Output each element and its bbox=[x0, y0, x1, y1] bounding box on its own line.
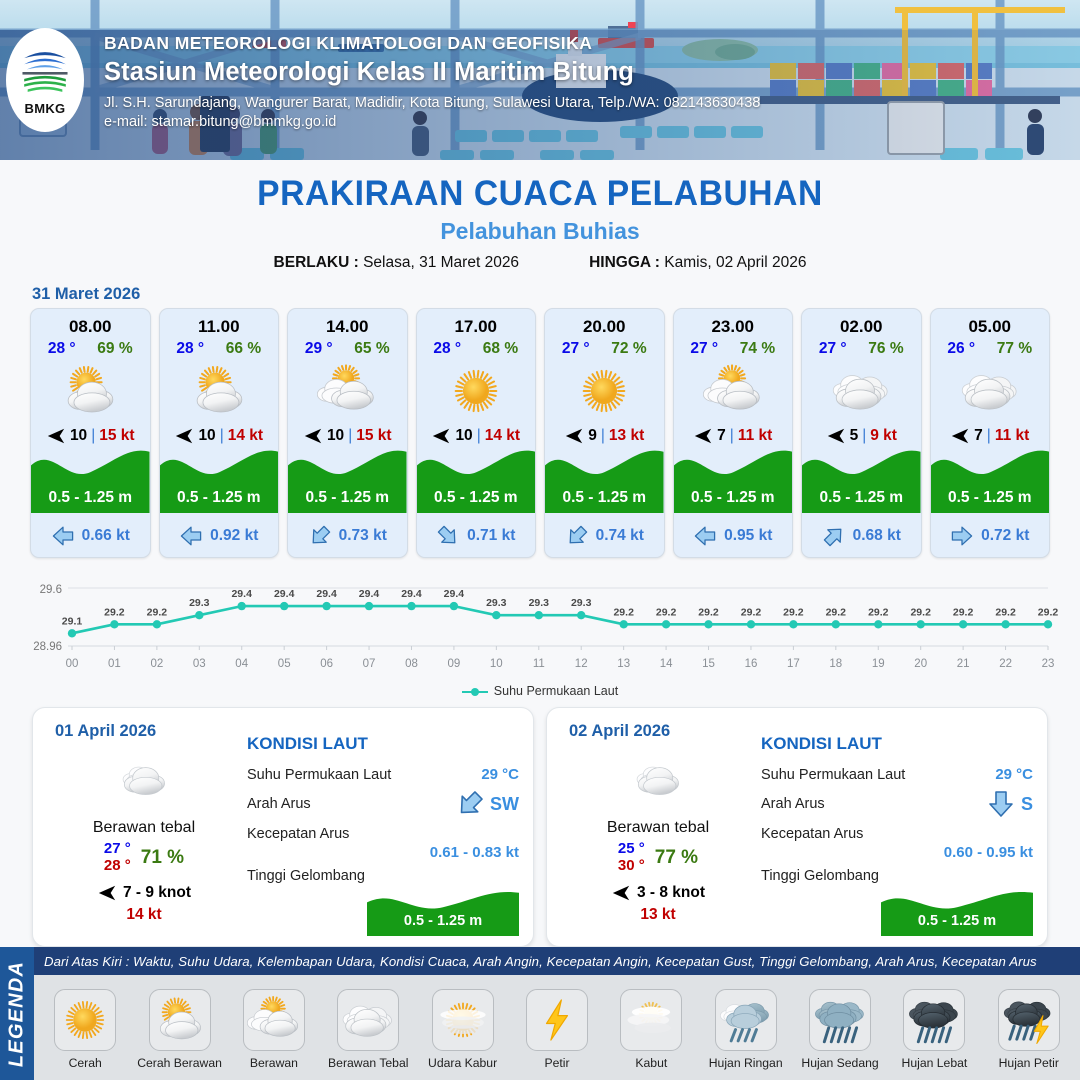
card-current-speed: 0.68 kt bbox=[853, 527, 901, 545]
legenda-icon-tile bbox=[903, 989, 965, 1051]
card-temperature: 27 ° bbox=[562, 340, 590, 358]
card-weather-icon bbox=[160, 360, 279, 422]
daily-forecast-panel: 01 April 2026 Berawan tebal 27 ° 28 ° bbox=[32, 707, 534, 947]
card-wave-height: 0.5 - 1.25 m bbox=[417, 489, 536, 507]
card-wind-row: 10 | 15 kt bbox=[31, 426, 150, 446]
card-wind-separator: | bbox=[91, 427, 95, 445]
current-speed-value: 0.60 - 0.95 kt bbox=[761, 844, 1033, 861]
legenda-item-label: Udara Kabur bbox=[428, 1056, 497, 1070]
svg-text:29.4: 29.4 bbox=[274, 588, 295, 600]
card-weather-icon bbox=[931, 360, 1050, 422]
panel-temperatures: 25 ° 30 ° bbox=[618, 841, 645, 875]
card-wind-separator: | bbox=[987, 427, 991, 445]
current-direction-value: SW bbox=[490, 794, 519, 815]
svg-text:08: 08 bbox=[405, 658, 418, 670]
sst-label: Suhu Permukaan Laut bbox=[247, 767, 391, 783]
card-time: 08.00 bbox=[31, 317, 150, 337]
card-temperature: 29 ° bbox=[305, 340, 333, 358]
card-temp-hum-row: 29 ° 65 % bbox=[288, 340, 407, 358]
legenda-icon-tile bbox=[149, 989, 211, 1051]
agency-name: BADAN METEOROLOGI KLIMATOLOGI DAN GEOFIS… bbox=[104, 33, 760, 54]
card-time: 14.00 bbox=[288, 317, 407, 337]
current-direction-row: Arah Arus SW bbox=[247, 789, 519, 819]
wind-direction-arrow bbox=[826, 426, 846, 446]
svg-text:29.4: 29.4 bbox=[316, 588, 337, 600]
panel-wave-height: 0.5 - 1.25 m bbox=[881, 913, 1033, 929]
valid-from-label: BERLAKU : bbox=[274, 254, 359, 271]
wave-height-row: Tinggi Gelombang bbox=[247, 861, 519, 890]
sun-icon bbox=[58, 993, 112, 1047]
card-gust-speed: 14 kt bbox=[485, 427, 520, 445]
sun-clouds-icon bbox=[317, 361, 377, 421]
current-direction-arrow-ne bbox=[822, 524, 846, 548]
card-wind-speed: 9 bbox=[588, 427, 597, 445]
current-speed-value: 0.61 - 0.83 kt bbox=[247, 844, 519, 861]
legenda-item-label: Berawan bbox=[250, 1056, 298, 1070]
sun-clouds-icon bbox=[247, 993, 301, 1047]
legenda-item: Hujan Lebat bbox=[887, 989, 981, 1070]
hourly-forecast-card: 20.00 27 ° 72 % 9 | 13 kt 0.5 - 1.25 m bbox=[544, 308, 665, 558]
panel-temp-min: 27 ° bbox=[104, 841, 131, 858]
wind-direction-arrow bbox=[97, 883, 117, 903]
svg-text:29.2: 29.2 bbox=[698, 606, 719, 618]
legenda-icon-tile bbox=[337, 989, 399, 1051]
current-direction-arrow-s bbox=[986, 789, 1016, 819]
card-current-speed: 0.92 kt bbox=[210, 527, 258, 545]
legenda-icon-tile bbox=[620, 989, 682, 1051]
current-direction-arrow-w bbox=[693, 524, 717, 548]
panel-temp-max: 30 ° bbox=[618, 858, 645, 875]
svg-text:22: 22 bbox=[999, 658, 1012, 670]
card-current-speed: 0.95 kt bbox=[724, 527, 772, 545]
bmkg-logo: BMKG bbox=[6, 28, 84, 132]
wave-height-row: Tinggi Gelombang bbox=[761, 861, 1033, 890]
hourly-forecast-card: 02.00 27 ° 76 % 5 | 9 kt bbox=[801, 308, 922, 558]
svg-text:14: 14 bbox=[660, 658, 673, 670]
panel-wave-box: 0.5 - 1.25 m bbox=[881, 888, 1033, 936]
svg-text:19: 19 bbox=[872, 658, 885, 670]
legenda-icon-tile bbox=[432, 989, 494, 1051]
legenda-item: Petir bbox=[510, 989, 604, 1070]
svg-text:09: 09 bbox=[448, 658, 461, 670]
panel-temp-min: 25 ° bbox=[618, 841, 645, 858]
legenda-item: Hujan Ringan bbox=[699, 989, 793, 1070]
station-name: Stasiun Meteorologi Kelas II Maritim Bit… bbox=[104, 58, 760, 87]
panel-date: 02 April 2026 bbox=[569, 722, 670, 741]
panel-temp-max: 28 ° bbox=[104, 858, 131, 875]
svg-text:28.96: 28.96 bbox=[33, 641, 62, 653]
wind-direction-arrow bbox=[611, 883, 631, 903]
hourly-date-label: 31 Maret 2026 bbox=[32, 285, 1080, 304]
card-time: 17.00 bbox=[417, 317, 536, 337]
svg-text:29.2: 29.2 bbox=[783, 606, 804, 618]
clouds-icon bbox=[341, 993, 395, 1047]
card-wave-height: 0.5 - 1.25 m bbox=[931, 489, 1050, 507]
panel-condition: Berawan tebal bbox=[49, 819, 239, 837]
card-temp-hum-row: 27 ° 72 % bbox=[545, 340, 664, 358]
svg-text:29.2: 29.2 bbox=[826, 606, 847, 618]
card-gust-speed: 11 kt bbox=[995, 427, 1029, 445]
legenda-item-label: Cerah Berawan bbox=[137, 1056, 222, 1070]
legenda-icon-tile bbox=[809, 989, 871, 1051]
svg-text:05: 05 bbox=[278, 658, 291, 670]
card-current-row: 0.66 kt bbox=[31, 524, 150, 548]
card-wind-separator: | bbox=[220, 427, 224, 445]
svg-text:29.2: 29.2 bbox=[741, 606, 762, 618]
panel-wave-box: 0.5 - 1.25 m bbox=[367, 888, 519, 936]
sst-chart: 29.628.9629.10029.20129.20229.30329.4042… bbox=[0, 572, 1080, 682]
svg-text:29.3: 29.3 bbox=[189, 597, 210, 609]
svg-text:29.4: 29.4 bbox=[359, 588, 380, 600]
wind-direction-arrow bbox=[950, 426, 970, 446]
current-direction-arrow-sw bbox=[565, 524, 589, 548]
card-humidity: 77 % bbox=[997, 340, 1032, 358]
legenda-item: Kabut bbox=[604, 989, 698, 1070]
card-wind-speed: 10 bbox=[70, 427, 87, 445]
sst-row: Suhu Permukaan Laut 29 °C bbox=[761, 760, 1033, 789]
svg-text:29.1: 29.1 bbox=[62, 615, 83, 627]
hourly-forecast-card: 08.00 28 ° 69 % 10 | 15 kt 0.5 - bbox=[30, 308, 151, 558]
station-email: e-mail: stamar.bitung@bmmkg.go.id bbox=[104, 114, 760, 130]
panel-wind-row: 3 - 8 knot bbox=[563, 883, 753, 903]
card-humidity: 65 % bbox=[354, 340, 389, 358]
card-humidity: 66 % bbox=[226, 340, 261, 358]
card-wind-separator: | bbox=[348, 427, 352, 445]
card-current-speed: 0.71 kt bbox=[467, 527, 515, 545]
legenda-item: Cerah bbox=[38, 989, 132, 1070]
current-direction-arrow-se bbox=[436, 524, 460, 548]
hourly-forecast-card: 11.00 28 ° 66 % 10 | 14 kt 0.5 - bbox=[159, 308, 280, 558]
card-current-speed: 0.72 kt bbox=[981, 527, 1029, 545]
svg-text:10: 10 bbox=[490, 658, 503, 670]
hourly-forecast-card: 23.00 27 ° 74 % 7 | 11 kt bbox=[673, 308, 794, 558]
card-wind-speed: 7 bbox=[974, 427, 983, 445]
legenda-item: Berawan bbox=[227, 989, 321, 1070]
panel-sea-conditions: KONDISI LAUT Suhu Permukaan Laut 29 °C A… bbox=[247, 734, 519, 936]
current-direction-arrow-sw bbox=[455, 789, 485, 819]
legenda-sidebar-label: LEGENDA bbox=[6, 960, 29, 1066]
legenda-note: Dari Atas Kiri : Waktu, Suhu Udara, Kele… bbox=[34, 947, 1080, 975]
card-temp-hum-row: 27 ° 74 % bbox=[674, 340, 793, 358]
legenda-item: Cerah Berawan bbox=[133, 989, 227, 1070]
lightning-icon bbox=[530, 993, 584, 1047]
sun-icon bbox=[574, 361, 634, 421]
validity-row: BERLAKU : Selasa, 31 Maret 2026 HINGGA :… bbox=[0, 254, 1080, 272]
card-humidity: 69 % bbox=[97, 340, 132, 358]
legenda-item-label: Berawan Tebal bbox=[328, 1056, 408, 1070]
current-direction-arrow-w bbox=[179, 524, 203, 548]
sea-conditions-title: KONDISI LAUT bbox=[247, 734, 519, 754]
card-gust-speed: 11 kt bbox=[738, 427, 772, 445]
panel-temp-hum-row: 25 ° 30 ° 77 % bbox=[563, 841, 753, 875]
legenda-icon-tile bbox=[54, 989, 116, 1051]
card-temperature: 27 ° bbox=[819, 340, 847, 358]
card-current-row: 0.95 kt bbox=[674, 524, 793, 548]
current-direction-arrow-e bbox=[950, 524, 974, 548]
page-title: PRAKIRAAN CUACA PELABUHAN bbox=[22, 174, 1059, 214]
svg-text:29.3: 29.3 bbox=[571, 597, 592, 609]
svg-text:17: 17 bbox=[787, 658, 800, 670]
svg-text:07: 07 bbox=[363, 658, 376, 670]
hourly-forecast-card: 14.00 29 ° 65 % 10 | 15 kt bbox=[287, 308, 408, 558]
hourly-forecast-card: 05.00 26 ° 77 % 7 | 11 kt bbox=[930, 308, 1051, 558]
cloud-icon bbox=[631, 753, 685, 807]
valid-to-value: Kamis, 02 April 2026 bbox=[664, 254, 806, 271]
wind-direction-arrow bbox=[564, 426, 584, 446]
valid-from: BERLAKU : Selasa, 31 Maret 2026 bbox=[274, 254, 520, 272]
svg-text:29.2: 29.2 bbox=[953, 606, 974, 618]
card-time: 11.00 bbox=[160, 317, 279, 337]
card-weather-icon bbox=[288, 360, 407, 422]
legenda-item-label: Kabut bbox=[635, 1056, 667, 1070]
legenda-item-label: Hujan Ringan bbox=[709, 1056, 783, 1070]
svg-text:02: 02 bbox=[151, 658, 164, 670]
sst-chart-svg: 29.628.9629.10029.20129.20229.30329.4042… bbox=[0, 572, 1080, 680]
card-wind-separator: | bbox=[862, 427, 866, 445]
legenda-item: Hujan Sedang bbox=[793, 989, 887, 1070]
current-direction-arrow-w bbox=[51, 524, 75, 548]
wind-direction-arrow bbox=[303, 426, 323, 446]
card-wind-row: 7 | 11 kt bbox=[674, 426, 793, 446]
svg-text:13: 13 bbox=[617, 658, 630, 670]
current-direction-value-box: S bbox=[986, 789, 1033, 819]
clouds-icon bbox=[960, 361, 1020, 421]
sea-conditions-title: KONDISI LAUT bbox=[761, 734, 1033, 754]
card-time: 20.00 bbox=[545, 317, 664, 337]
card-temperature: 28 ° bbox=[433, 340, 461, 358]
svg-text:15: 15 bbox=[702, 658, 715, 670]
card-temp-hum-row: 28 ° 69 % bbox=[31, 340, 150, 358]
legenda-icon-tile bbox=[998, 989, 1060, 1051]
current-direction-arrow-sw bbox=[308, 524, 332, 548]
card-wind-separator: | bbox=[601, 427, 605, 445]
card-temperature: 26 ° bbox=[947, 340, 975, 358]
sun-icon bbox=[446, 361, 506, 421]
svg-text:29.2: 29.2 bbox=[910, 606, 931, 618]
card-wind-row: 10 | 14 kt bbox=[160, 426, 279, 446]
svg-text:06: 06 bbox=[320, 658, 333, 670]
svg-text:29.3: 29.3 bbox=[486, 597, 507, 609]
bmkg-logo-mark bbox=[19, 44, 71, 100]
svg-text:20: 20 bbox=[914, 658, 927, 670]
current-speed-label: Kecepatan Arus bbox=[761, 826, 863, 842]
panel-wind-row: 7 - 9 knot bbox=[49, 883, 239, 903]
svg-text:29.2: 29.2 bbox=[868, 606, 889, 618]
current-direction-row: Arah Arus S bbox=[761, 789, 1033, 819]
card-wave-height: 0.5 - 1.25 m bbox=[802, 489, 921, 507]
valid-to-label: HINGGA : bbox=[589, 254, 660, 271]
card-humidity: 68 % bbox=[483, 340, 518, 358]
panel-wave-height: 0.5 - 1.25 m bbox=[367, 913, 519, 929]
card-weather-icon bbox=[802, 360, 921, 422]
card-temp-hum-row: 28 ° 68 % bbox=[417, 340, 536, 358]
card-wind-speed: 10 bbox=[327, 427, 344, 445]
valid-from-value: Selasa, 31 Maret 2026 bbox=[363, 254, 519, 271]
card-wave-height: 0.5 - 1.25 m bbox=[545, 489, 664, 507]
legenda-section: LEGENDA Dari Atas Kiri : Waktu, Suhu Uda… bbox=[0, 947, 1080, 1080]
valid-to: HINGGA : Kamis, 02 April 2026 bbox=[589, 254, 806, 272]
sun-cloud-icon bbox=[60, 361, 120, 421]
svg-text:11: 11 bbox=[533, 658, 545, 670]
svg-text:29.2: 29.2 bbox=[104, 606, 125, 618]
panel-left-column: Berawan tebal 25 ° 30 ° 77 % 3 - 8 knot … bbox=[563, 754, 753, 924]
panel-humidity: 71 % bbox=[141, 847, 184, 869]
svg-text:21: 21 bbox=[957, 658, 970, 670]
svg-text:29.2: 29.2 bbox=[147, 606, 168, 618]
panel-left-column: Berawan tebal 27 ° 28 ° 71 % 7 - 9 knot … bbox=[49, 754, 239, 924]
card-gust-speed: 14 kt bbox=[228, 427, 263, 445]
card-current-speed: 0.74 kt bbox=[596, 527, 644, 545]
fog-icon bbox=[624, 993, 678, 1047]
card-wave-height: 0.5 - 1.25 m bbox=[674, 489, 793, 507]
panel-humidity: 77 % bbox=[655, 847, 698, 869]
legenda-item: Hujan Petir bbox=[982, 989, 1076, 1070]
card-humidity: 76 % bbox=[868, 340, 903, 358]
panel-date: 01 April 2026 bbox=[55, 722, 156, 741]
svg-text:18: 18 bbox=[829, 658, 842, 670]
card-weather-icon bbox=[674, 360, 793, 422]
sst-legend-marker bbox=[462, 686, 488, 696]
legenda-icon-tile bbox=[715, 989, 777, 1051]
wind-direction-arrow bbox=[174, 426, 194, 446]
svg-text:29.3: 29.3 bbox=[529, 597, 550, 609]
svg-text:29.4: 29.4 bbox=[444, 588, 465, 600]
legenda-item-label: Hujan Petir bbox=[999, 1056, 1059, 1070]
sst-row: Suhu Permukaan Laut 29 °C bbox=[247, 760, 519, 789]
sst-value: 29 °C bbox=[481, 766, 519, 783]
svg-text:29.4: 29.4 bbox=[231, 588, 252, 600]
card-wave-height: 0.5 - 1.25 m bbox=[288, 489, 407, 507]
page-header: BMKG BADAN METEOROLOGI KLIMATOLOGI DAN G… bbox=[0, 0, 1080, 160]
header-text-block: BADAN METEOROLOGI KLIMATOLOGI DAN GEOFIS… bbox=[104, 33, 760, 130]
moderate-rain-icon bbox=[813, 993, 867, 1047]
legenda-icon-tile bbox=[526, 989, 588, 1051]
card-gust-speed: 13 kt bbox=[609, 427, 644, 445]
card-wind-speed: 10 bbox=[198, 427, 215, 445]
card-gust-speed: 15 kt bbox=[99, 427, 134, 445]
card-weather-icon bbox=[417, 360, 536, 422]
panel-gust-speed: 14 kt bbox=[49, 906, 239, 924]
svg-text:00: 00 bbox=[66, 658, 79, 670]
card-temperature: 28 ° bbox=[176, 340, 204, 358]
card-current-row: 0.73 kt bbox=[288, 524, 407, 548]
card-wind-row: 10 | 15 kt bbox=[288, 426, 407, 446]
card-wind-speed: 10 bbox=[455, 427, 472, 445]
card-wind-row: 5 | 9 kt bbox=[802, 426, 921, 446]
card-temp-hum-row: 27 ° 76 % bbox=[802, 340, 921, 358]
card-wind-row: 7 | 11 kt bbox=[931, 426, 1050, 446]
wind-direction-arrow bbox=[431, 426, 451, 446]
legenda-item-label: Hujan Sedang bbox=[801, 1056, 878, 1070]
svg-text:03: 03 bbox=[193, 658, 206, 670]
sun-clouds-icon bbox=[703, 361, 763, 421]
svg-text:23: 23 bbox=[1042, 658, 1055, 670]
hourly-forecast-row: 08.00 28 ° 69 % 10 | 15 kt 0.5 - bbox=[0, 308, 1080, 558]
svg-text:29.2: 29.2 bbox=[1038, 606, 1059, 618]
svg-text:29.6: 29.6 bbox=[40, 584, 62, 596]
legenda-item: Berawan Tebal bbox=[321, 989, 415, 1070]
wind-direction-arrow bbox=[693, 426, 713, 446]
card-temperature: 28 ° bbox=[48, 340, 76, 358]
card-weather-icon bbox=[31, 360, 150, 422]
legenda-item-label: Cerah bbox=[69, 1056, 102, 1070]
legenda-items: Cerah Cerah Berawan bbox=[34, 975, 1080, 1080]
legenda-icon-tile bbox=[243, 989, 305, 1051]
card-temperature: 27 ° bbox=[690, 340, 718, 358]
svg-text:12: 12 bbox=[575, 658, 588, 670]
card-wind-separator: | bbox=[730, 427, 734, 445]
svg-text:29.4: 29.4 bbox=[401, 588, 422, 600]
card-wind-speed: 7 bbox=[717, 427, 726, 445]
card-wave-height: 0.5 - 1.25 m bbox=[31, 489, 150, 507]
haze-icon bbox=[436, 993, 490, 1047]
panel-wind-speed: 7 - 9 knot bbox=[123, 884, 191, 902]
cloud-icon bbox=[117, 753, 171, 807]
card-humidity: 74 % bbox=[740, 340, 775, 358]
card-temp-hum-row: 28 ° 66 % bbox=[160, 340, 279, 358]
thunderstorm-icon bbox=[1002, 993, 1056, 1047]
card-wave-height: 0.5 - 1.25 m bbox=[160, 489, 279, 507]
title-block: PRAKIRAAN CUACA PELABUHAN Pelabuhan Buhi… bbox=[0, 174, 1080, 272]
current-speed-label: Kecepatan Arus bbox=[247, 826, 349, 842]
panel-temp-hum-row: 27 ° 28 ° 71 % bbox=[49, 841, 239, 875]
svg-text:29.2: 29.2 bbox=[995, 606, 1016, 618]
svg-text:01: 01 bbox=[108, 658, 121, 670]
card-current-speed: 0.66 kt bbox=[82, 527, 130, 545]
bmkg-logo-text: BMKG bbox=[25, 101, 66, 116]
sun-cloud-icon bbox=[153, 993, 207, 1047]
card-current-row: 0.92 kt bbox=[160, 524, 279, 548]
svg-text:16: 16 bbox=[745, 658, 758, 670]
current-direction-value: S bbox=[1021, 794, 1033, 815]
port-name: Pelabuhan Buhias bbox=[0, 218, 1080, 245]
sun-cloud-icon bbox=[189, 361, 249, 421]
sst-chart-legend: Suhu Permukaan Laut bbox=[0, 684, 1080, 698]
current-direction-label: Arah Arus bbox=[761, 796, 825, 812]
sst-value: 29 °C bbox=[995, 766, 1033, 783]
hourly-forecast-card: 17.00 28 ° 68 % 10 | 14 kt 0.5 - 1.25 m bbox=[416, 308, 537, 558]
card-current-row: 0.74 kt bbox=[545, 524, 664, 548]
panel-weather-icon bbox=[49, 754, 239, 806]
wind-direction-arrow bbox=[46, 426, 66, 446]
panel-weather-icon bbox=[563, 754, 753, 806]
panel-sea-conditions: KONDISI LAUT Suhu Permukaan Laut 29 °C A… bbox=[761, 734, 1033, 936]
card-time: 23.00 bbox=[674, 317, 793, 337]
current-direction-label: Arah Arus bbox=[247, 796, 311, 812]
card-current-row: 0.68 kt bbox=[802, 524, 921, 548]
card-wind-row: 10 | 14 kt bbox=[417, 426, 536, 446]
card-time: 02.00 bbox=[802, 317, 921, 337]
panel-temperatures: 27 ° 28 ° bbox=[104, 841, 131, 875]
legenda-sidebar: LEGENDA bbox=[0, 947, 34, 1080]
svg-text:04: 04 bbox=[235, 658, 248, 670]
card-wind-row: 9 | 13 kt bbox=[545, 426, 664, 446]
legenda-item-label: Hujan Lebat bbox=[902, 1056, 968, 1070]
card-wind-speed: 5 bbox=[850, 427, 859, 445]
clouds-icon bbox=[831, 361, 891, 421]
sst-label: Suhu Permukaan Laut bbox=[761, 767, 905, 783]
legenda-item: Udara Kabur bbox=[416, 989, 510, 1070]
legenda-main: Dari Atas Kiri : Waktu, Suhu Udara, Kele… bbox=[34, 947, 1080, 1080]
card-weather-icon bbox=[545, 360, 664, 422]
svg-text:29.2: 29.2 bbox=[656, 606, 677, 618]
card-humidity: 72 % bbox=[611, 340, 646, 358]
legenda-item-label: Petir bbox=[544, 1056, 569, 1070]
wave-height-label: Tinggi Gelombang bbox=[761, 868, 879, 884]
daily-forecast-panels: 01 April 2026 Berawan tebal 27 ° 28 ° bbox=[0, 707, 1080, 947]
wave-height-label: Tinggi Gelombang bbox=[247, 868, 365, 884]
card-current-row: 0.71 kt bbox=[417, 524, 536, 548]
